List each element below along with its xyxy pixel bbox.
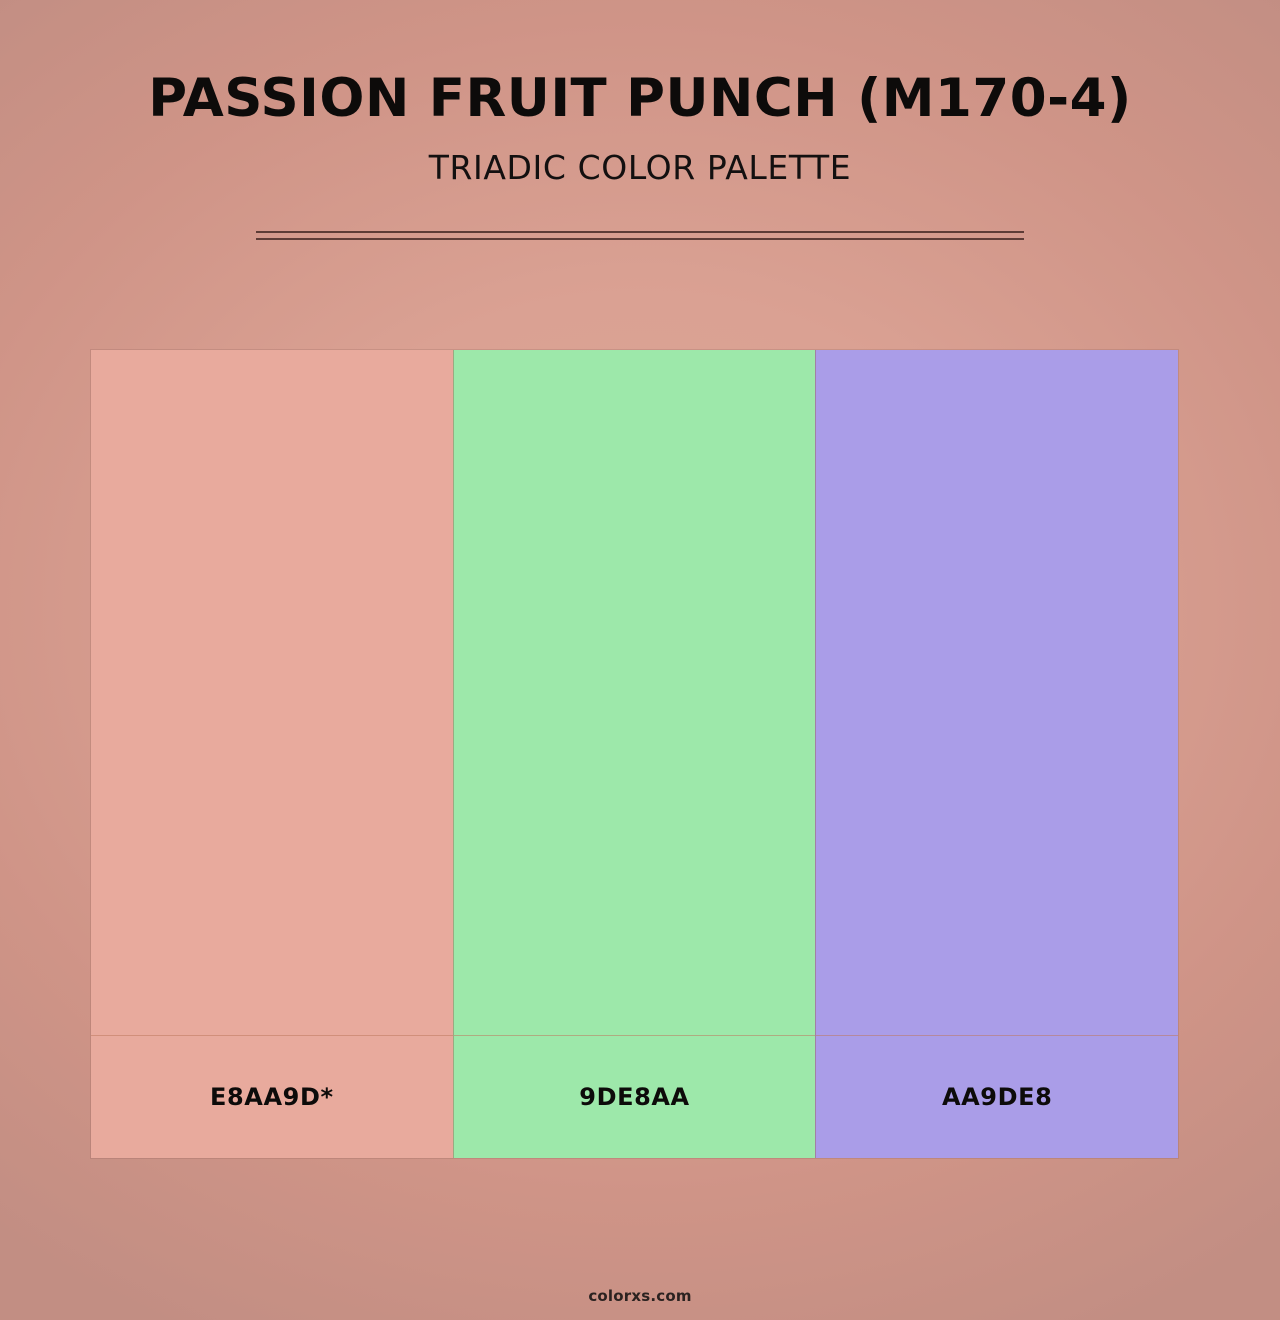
color-swatch[interactable]: E8AA9D*: [91, 350, 453, 1158]
color-swatch-label-band: E8AA9D*: [91, 1035, 453, 1158]
color-swatch-fill: [816, 350, 1178, 1035]
color-swatch-fill: [454, 350, 816, 1035]
color-swatch-hex-label: AA9DE8: [942, 1083, 1052, 1111]
color-swatch-hex-label: 9DE8AA: [579, 1083, 689, 1111]
color-swatch[interactable]: 9DE8AA: [453, 350, 816, 1158]
color-swatch-label-band: 9DE8AA: [454, 1035, 816, 1158]
page-footer: colorxs.com: [0, 1286, 1280, 1305]
site-credit: colorxs.com: [588, 1287, 691, 1305]
palette-strip: E8AA9D* 9DE8AA AA9DE8: [91, 350, 1178, 1158]
page-subtitle: TRIADIC COLOR PALETTE: [0, 125, 1280, 184]
color-swatch-hex-label: E8AA9D*: [210, 1083, 334, 1111]
page-header: PASSION FRUIT PUNCH (M170-4) TRIADIC COL…: [0, 0, 1280, 184]
color-palette-page: PASSION FRUIT PUNCH (M170-4) TRIADIC COL…: [0, 0, 1280, 1320]
color-swatch[interactable]: AA9DE8: [815, 350, 1178, 1158]
header-divider: [256, 231, 1024, 240]
page-title: PASSION FRUIT PUNCH (M170-4): [0, 0, 1280, 125]
color-swatch-label-band: AA9DE8: [816, 1035, 1178, 1158]
color-swatch-fill: [91, 350, 453, 1035]
